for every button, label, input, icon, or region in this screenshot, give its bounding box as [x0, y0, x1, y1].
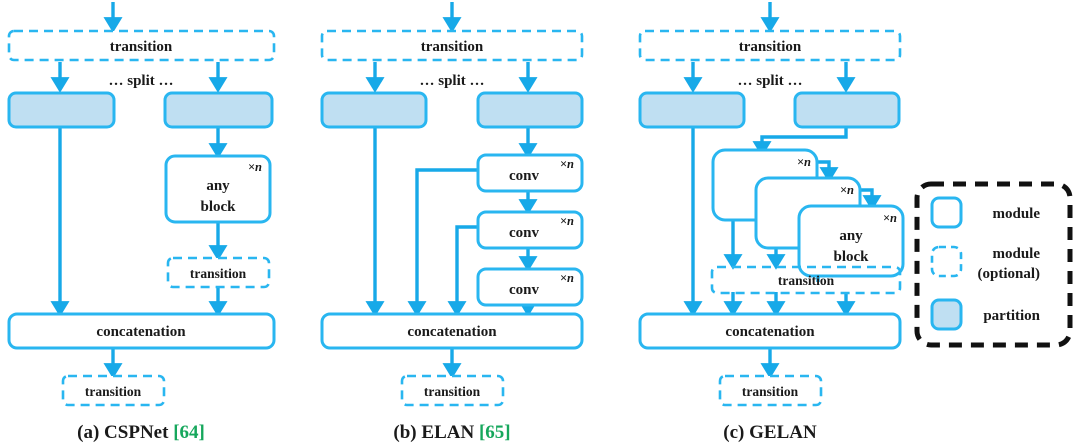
split-label: … split …	[108, 73, 173, 89]
caption-c: (c) GELAN	[723, 422, 817, 443]
caption-c-prefix: (c)	[723, 422, 744, 443]
legend-swatch-module	[932, 198, 961, 227]
partition-left[interactable]	[640, 93, 744, 127]
caption-b-prefix: (b)	[393, 422, 416, 443]
caption-b-name: ELAN	[421, 422, 474, 443]
transition-mid-label: transition	[778, 273, 835, 288]
concatenation-label: concatenation	[725, 324, 815, 340]
caption-a-prefix: (a)	[77, 422, 99, 443]
architecture-diagram: transition … split … ×n any block transi…	[0, 0, 1080, 446]
conv-2-repeat: ×n	[560, 214, 574, 228]
legend-label-partition: partition	[983, 308, 1040, 324]
panel-c: transition … split … ×n ×n ×n any block …	[640, 31, 903, 443]
caption-a-ref: [64]	[173, 422, 205, 443]
any-block-3-label-2: block	[833, 249, 869, 265]
any-block-2-repeat: ×n	[840, 183, 854, 197]
legend-swatch-module-optional	[932, 247, 961, 276]
concatenation-label: concatenation	[407, 324, 497, 340]
conv-2-label: conv	[509, 225, 540, 241]
panel-b: transition … split … ×n conv ×n conv ×n …	[322, 31, 582, 443]
caption-a: (a) CSPNet [64]	[77, 422, 205, 443]
legend-label-module: module	[992, 206, 1040, 222]
partition-right[interactable]	[165, 93, 272, 127]
transition-bottom-label: transition	[85, 384, 142, 399]
any-block-3-label-1: any	[839, 228, 863, 244]
legend-swatch-partition	[932, 300, 961, 329]
partition-left[interactable]	[9, 93, 114, 127]
conv-3-repeat: ×n	[560, 271, 574, 285]
conv-1-label: conv	[509, 168, 540, 184]
any-block-1-repeat: ×n	[797, 155, 811, 169]
caption-a-name: CSPNet	[104, 422, 169, 443]
any-block-3-repeat: ×n	[883, 211, 897, 225]
transition-bottom-label: transition	[424, 384, 481, 399]
caption-b: (b) ELAN [65]	[393, 422, 510, 443]
legend: module module (optional) partition	[917, 184, 1070, 345]
split-label: … split …	[737, 73, 802, 89]
caption-c-name: GELAN	[749, 422, 817, 443]
panel-a: transition … split … ×n any block transi…	[9, 31, 274, 443]
transition-top-label: transition	[421, 39, 484, 55]
partition-right[interactable]	[478, 93, 582, 127]
transition-top-label: transition	[110, 39, 173, 55]
transition-bottom-label: transition	[742, 384, 799, 399]
transition-top-label: transition	[739, 39, 802, 55]
concatenation-label: concatenation	[96, 324, 186, 340]
any-block-label-1: any	[206, 178, 230, 194]
legend-label-module-optional-2: (optional)	[977, 266, 1040, 282]
transition-mid-label: transition	[190, 266, 247, 281]
split-label: … split …	[419, 73, 484, 89]
caption-b-ref: [65]	[479, 422, 511, 443]
any-block-label-2: block	[200, 199, 236, 215]
conv-3-label: conv	[509, 282, 540, 298]
conv-1-repeat: ×n	[560, 157, 574, 171]
any-block-repeat: ×n	[248, 160, 262, 174]
partition-left[interactable]	[322, 93, 426, 127]
legend-label-module-optional-1: module	[992, 246, 1040, 262]
partition-right[interactable]	[795, 93, 899, 127]
figure-canvas: transition … split … ×n any block transi…	[0, 0, 1080, 446]
